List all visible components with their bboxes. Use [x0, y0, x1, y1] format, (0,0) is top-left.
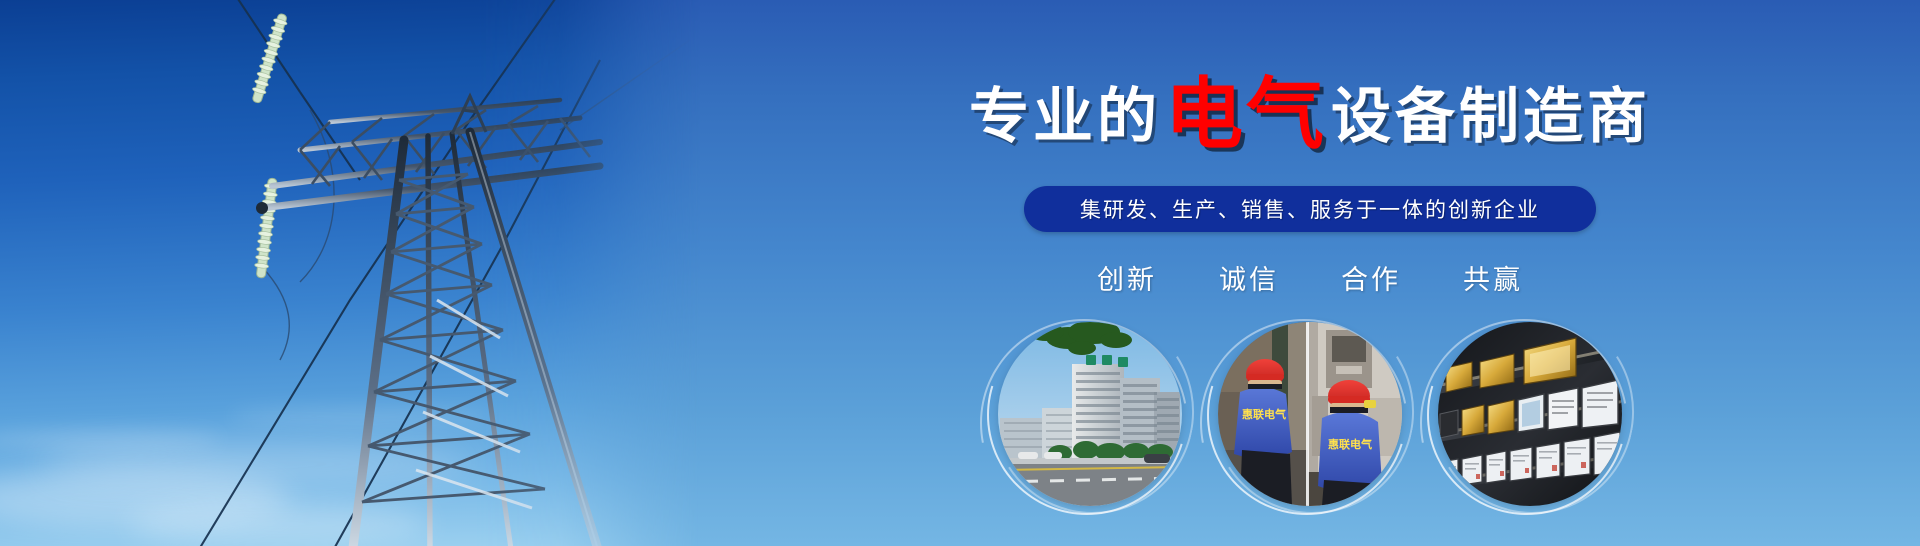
pylon-structure	[0, 0, 700, 546]
office-building-photo[interactable]	[998, 322, 1182, 506]
headline-accent: 电气	[1165, 70, 1327, 160]
transmission-tower-photo	[0, 0, 700, 546]
gallery-item[interactable]	[998, 322, 1182, 506]
keyword-winwin: 共赢	[1463, 258, 1523, 297]
banner-content: 专业的电气设备制造商 集研发、生产、销售、服务于一体的创新企业 创新 诚信 合作…	[700, 0, 1920, 546]
tagline-pill: 集研发、生产、销售、服务于一体的创新企业	[1024, 186, 1596, 232]
tagline-text: 集研发、生产、销售、服务于一体的创新企业	[1080, 194, 1540, 224]
keyword-integrity: 诚信	[1219, 258, 1279, 297]
page-title: 专业的电气设备制造商	[700, 72, 1920, 150]
keyword-innovation: 创新	[1097, 258, 1157, 297]
headline-tail: 设备制造商	[1331, 82, 1651, 152]
svg-text:惠联电气: 惠联电气	[1328, 437, 1372, 451]
headline-lead: 专业的	[969, 82, 1161, 152]
keyword-cooperation: 合作	[1341, 258, 1401, 297]
technicians-at-work-photo[interactable]: 惠联电气 惠联电气	[1218, 322, 1402, 506]
hero-banner: 专业的电气设备制造商 集研发、生产、销售、服务于一体的创新企业 创新 诚信 合作…	[0, 0, 1920, 546]
photo-gallery: 惠联电气 惠联电气	[998, 322, 1622, 506]
certificate-wall-photo[interactable]	[1438, 322, 1622, 506]
keyword-list: 创新 诚信 合作 共赢	[1097, 258, 1523, 297]
gallery-item[interactable]	[1438, 322, 1622, 506]
svg-text:惠联电气: 惠联电气	[1242, 407, 1286, 421]
gallery-item[interactable]: 惠联电气 惠联电气	[1218, 322, 1402, 506]
